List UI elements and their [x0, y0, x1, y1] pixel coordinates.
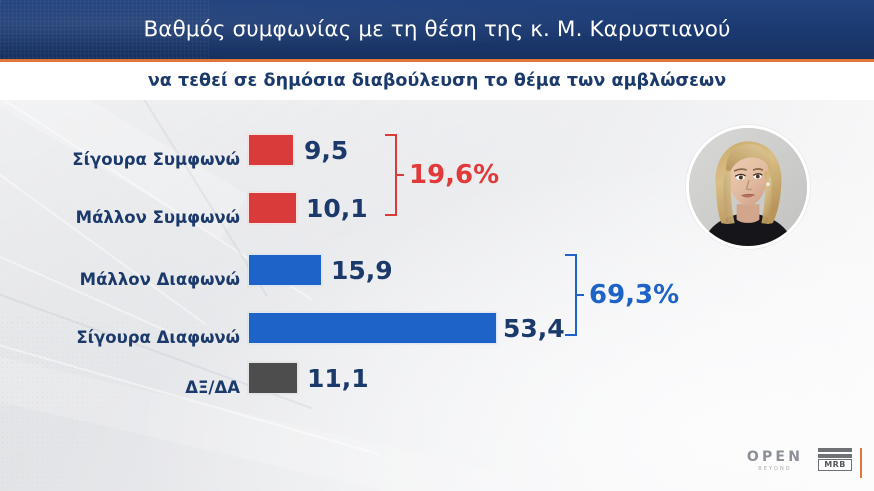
footer-logos: OPEN BEYOND MRB: [744, 448, 864, 482]
mrb-logo-bar-top: [818, 448, 852, 452]
avatar: [686, 125, 810, 249]
subtitle-bar: να τεθεί σε δημόσια διαβούλευση το θέμα …: [0, 62, 874, 100]
bar-row-dxda: ΔΞ/ΔΑ 11,1: [0, 358, 874, 398]
bracket-agree-mid-tick: [396, 174, 404, 176]
bracket-disagree-bottom-tick: [565, 334, 577, 336]
bar-label-mallon-diafono: Μάλλον Διαφωνώ: [0, 270, 240, 289]
bar-dxda: [248, 362, 298, 394]
bracket-disagree-label: 69,3%: [589, 280, 679, 310]
mrb-logo-bar-bottom: [818, 454, 852, 458]
beyond-logo-text: BEYOND: [744, 465, 806, 473]
bracket-agree-label: 19,6%: [409, 160, 499, 190]
bar-value-mallon-symfono: 10,1: [306, 192, 368, 224]
bar-mallon-diafono: [248, 254, 322, 286]
bar-mallon-symfono: [248, 192, 297, 224]
portrait-photo: [689, 128, 807, 246]
open-beyond-logo: OPEN BEYOND: [744, 450, 806, 473]
open-logo-text: OPEN: [744, 450, 806, 464]
bar-value-mallon-diafono: 15,9: [331, 254, 393, 286]
mrb-logo: MRB: [818, 448, 852, 471]
footer-orange-rule: [860, 448, 862, 478]
mrb-logo-box: MRB: [818, 459, 852, 471]
bar-label-dxda: ΔΞ/ΔΑ: [0, 378, 240, 397]
mrb-logo-text: MRB: [824, 461, 845, 469]
bar-row-sigoura-diafono: Σίγουρα Διαφωνώ 53,4: [0, 308, 874, 348]
bracket-agree-bottom-tick: [385, 214, 397, 216]
bar-row-mallon-diafono: Μάλλον Διαφωνώ 15,9: [0, 250, 874, 290]
bar-label-sigoura-diafono: Σίγουρα Διαφωνώ: [0, 328, 240, 347]
page-title: Βαθμός συμφωνίας με τη θέση της κ. Μ. Κα…: [0, 0, 874, 59]
bar-value-sigoura-diafono: 53,4: [503, 312, 565, 344]
bar-sigoura-symfono: [248, 134, 294, 166]
bar-sigoura-diafono: [248, 312, 497, 344]
bar-value-sigoura-symfono: 9,5: [304, 134, 348, 166]
header-banner: Βαθμός συμφωνίας με τη θέση της κ. Μ. Κα…: [0, 0, 874, 62]
bar-value-dxda: 11,1: [307, 362, 369, 394]
page-subtitle: να τεθεί σε δημόσια διαβούλευση το θέμα …: [148, 71, 726, 91]
bracket-disagree-mid-tick: [576, 294, 584, 296]
bar-label-sigoura-symfono: Σίγουρα Συμφωνώ: [0, 150, 240, 169]
bar-label-mallon-symfono: Μάλλον Συμφωνώ: [0, 208, 240, 227]
